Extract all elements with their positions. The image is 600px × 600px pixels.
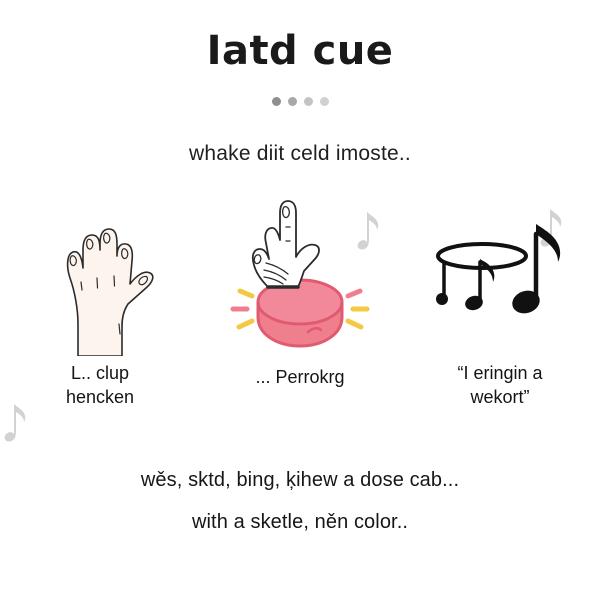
progress-dot[interactable] bbox=[288, 97, 297, 106]
card-open-hand[interactable]: L.. clup hencken bbox=[5, 196, 195, 410]
sparkle-group-right bbox=[348, 291, 367, 327]
hand-pressing-button-illustration bbox=[220, 196, 380, 356]
card-row: L.. clup hencken bbox=[0, 196, 600, 410]
sparkle-group-left bbox=[233, 291, 252, 327]
card-caption: L.. clup hencken bbox=[66, 362, 134, 410]
card-press-button[interactable]: ... Perrokrg bbox=[205, 196, 395, 390]
footer-text-block: wěs, sktd, bing, ķihew a dose cab... wit… bbox=[0, 470, 600, 532]
card-caption: “I eringin a wekort” bbox=[457, 362, 542, 410]
page-title: Iatd cue bbox=[0, 28, 600, 74]
open-hand-illustration bbox=[40, 196, 160, 356]
subtitle-text: whake diit celd imoste.. bbox=[0, 142, 600, 166]
progress-dots[interactable] bbox=[0, 97, 600, 106]
card-music-notes[interactable]: “I eringin a wekort” bbox=[405, 196, 595, 410]
music-notes-illustration bbox=[430, 196, 570, 356]
progress-dot[interactable] bbox=[320, 97, 329, 106]
progress-dot[interactable] bbox=[272, 97, 281, 106]
slide-canvas: Iatd cue whake diit celd imoste.. bbox=[0, 0, 600, 600]
card-caption: ... Perrokrg bbox=[255, 366, 344, 390]
footer-line-2: with a sketle, něn color.. bbox=[0, 512, 600, 532]
progress-dot[interactable] bbox=[304, 97, 313, 106]
footer-line-1: wěs, sktd, bing, ķihew a dose cab... bbox=[0, 470, 600, 490]
